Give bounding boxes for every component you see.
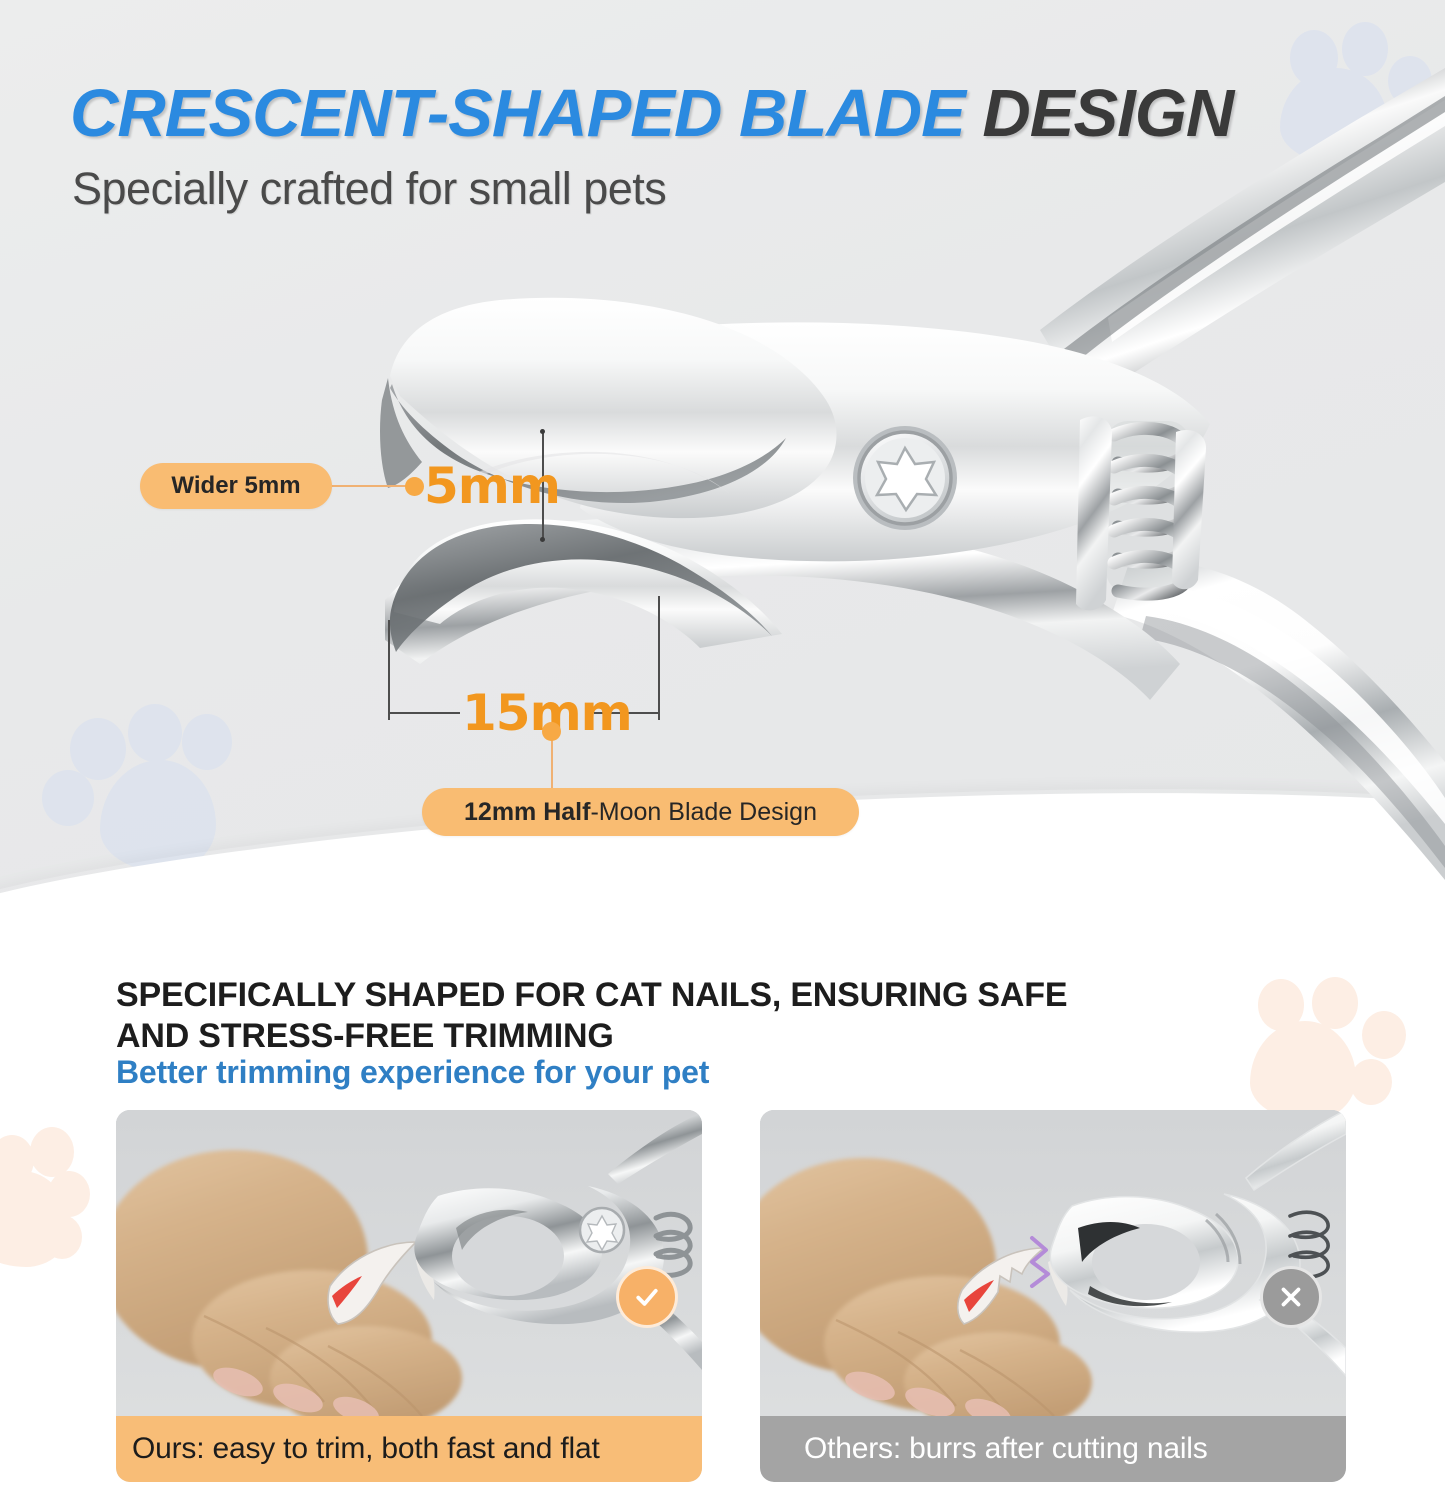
caption-others: Others: burrs after cutting nails [760, 1416, 1346, 1482]
callout-halfmoon-rest: -Moon Blade Design [590, 798, 817, 827]
callout-pill-wider: Wider 5mm [140, 463, 332, 509]
callout-halfmoon-bold: 12mm Half [464, 798, 590, 827]
page-subtitle: Specially crafted for small pets [72, 163, 666, 215]
infographic-page: 5mm Wider 5mm 15mm 12mm Half-Moon Blade … [0, 0, 1445, 1491]
dimension-tick-top [540, 429, 545, 434]
comparison-subheading: Better trimming experience for your pet [116, 1054, 709, 1091]
dimension-height-label: 5mm [424, 457, 560, 515]
dimension-extension-left [388, 620, 390, 720]
comparison-cards: Ours: easy to trim, both fast and flat [0, 1110, 1445, 1490]
comparison-section: SPECIFICALLY SHAPED FOR CAT NAILS, ENSUR… [0, 935, 1445, 1491]
comparison-heading: SPECIFICALLY SHAPED FOR CAT NAILS, ENSUR… [116, 975, 1116, 1058]
photo-others [760, 1110, 1346, 1416]
comparison-card-others: Others: burrs after cutting nails [760, 1110, 1346, 1482]
photo-ours [116, 1110, 702, 1416]
status-badge-cross [1260, 1266, 1322, 1328]
cross-circle-icon [1276, 1282, 1306, 1312]
status-badge-check [616, 1266, 678, 1328]
hero-section: 5mm Wider 5mm 15mm 12mm Half-Moon Blade … [0, 0, 1445, 935]
dimension-tick-bottom [540, 537, 545, 542]
page-title-secondary: DESIGN [982, 76, 1233, 151]
dimension-extension-right [658, 596, 660, 720]
comparison-card-ours: Ours: easy to trim, both fast and flat [116, 1110, 702, 1482]
page-title: CRESCENT-SHAPED BLADE DESIGN [70, 80, 1233, 147]
dimension-line-horizontal-left [388, 712, 460, 714]
check-circle-icon [632, 1282, 662, 1312]
callout-pill-halfmoon: 12mm Half-Moon Blade Design [422, 788, 859, 836]
page-title-primary: CRESCENT-SHAPED BLADE [70, 76, 965, 151]
caption-ours: Ours: easy to trim, both fast and flat [116, 1416, 702, 1482]
callout-dot-wider [405, 477, 424, 496]
callout-dot-halfmoon [542, 722, 561, 741]
callout-leader-wider [331, 485, 412, 487]
